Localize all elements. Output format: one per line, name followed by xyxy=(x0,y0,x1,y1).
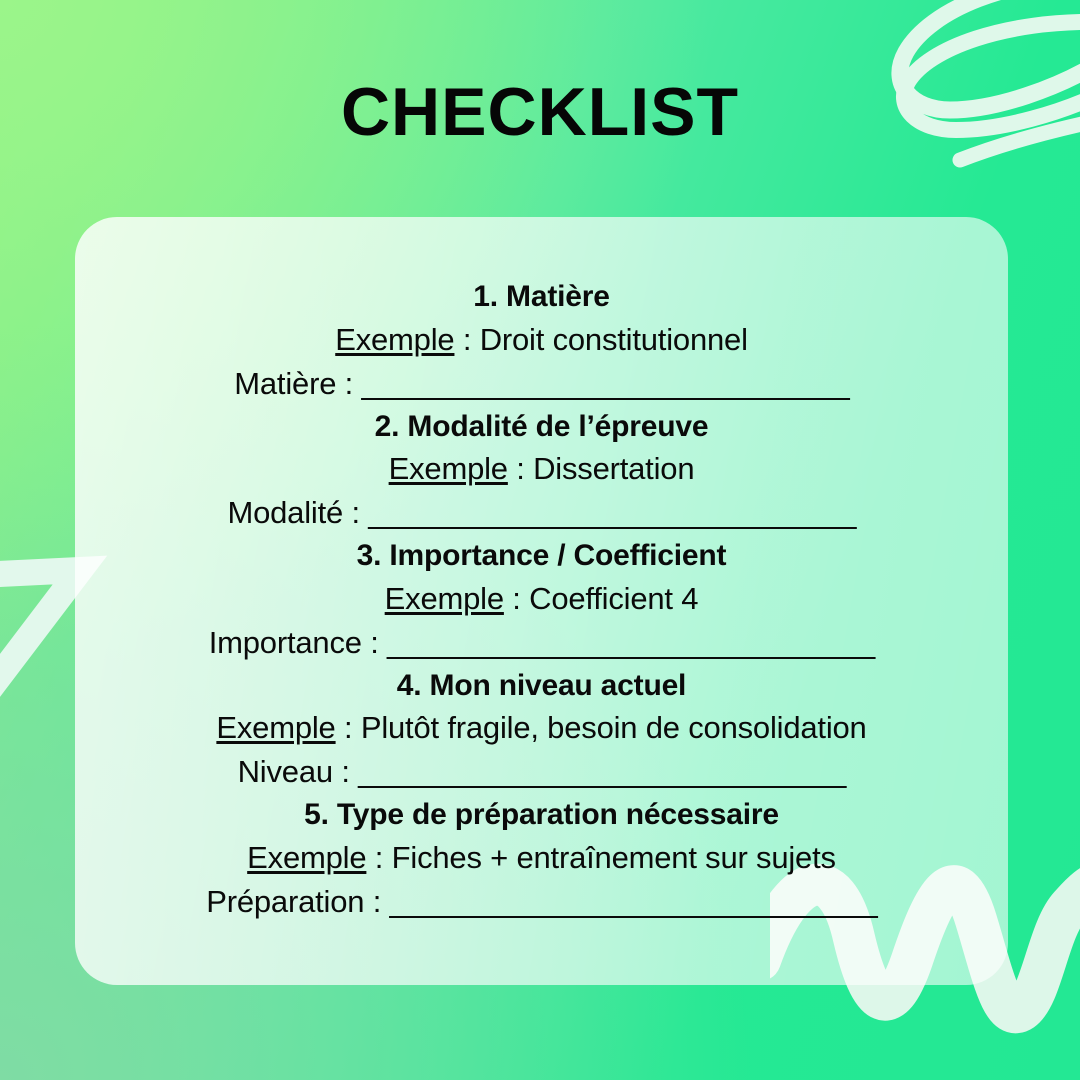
item-field[interactable]: Importance : ___________________________… xyxy=(101,621,982,665)
field-blank-line[interactable]: ______________________________ xyxy=(387,625,874,660)
example-separator: : xyxy=(454,322,479,357)
checklist-poster: CHECKLIST 1. Matière Exemple : Droit con… xyxy=(0,0,1080,1080)
field-label: Importance : xyxy=(209,625,387,660)
field-label: Préparation : xyxy=(206,884,389,919)
checklist-item: 4. Mon niveau actuel Exemple : Plutôt fr… xyxy=(101,665,982,794)
item-example: Exemple : Fiches + entraînement sur suje… xyxy=(101,836,982,880)
example-value: Droit constitutionnel xyxy=(480,322,748,357)
field-label: Modalité : xyxy=(227,495,368,530)
example-value: Coefficient 4 xyxy=(529,581,698,616)
example-label: Exemple xyxy=(385,581,504,616)
example-separator: : xyxy=(336,710,361,745)
item-field[interactable]: Préparation : __________________________… xyxy=(101,880,982,924)
example-separator: : xyxy=(366,840,391,875)
example-label: Exemple xyxy=(389,451,508,486)
example-label: Exemple xyxy=(247,840,366,875)
item-heading: 3. Importance / Coefficient xyxy=(101,535,982,576)
field-blank-line[interactable]: ______________________________ xyxy=(358,754,845,789)
item-heading: 1. Matière xyxy=(101,276,982,317)
example-separator: : xyxy=(508,451,533,486)
example-label: Exemple xyxy=(216,710,335,745)
checklist-item: 5. Type de préparation nécessaire Exempl… xyxy=(101,794,982,923)
item-example: Exemple : Plutôt fragile, besoin de cons… xyxy=(101,706,982,750)
item-heading: 2. Modalité de l’épreuve xyxy=(101,406,982,447)
item-example: Exemple : Droit constitutionnel xyxy=(101,318,982,362)
example-value: Fiches + entraînement sur sujets xyxy=(392,840,836,875)
example-value: Dissertation xyxy=(533,451,694,486)
example-separator: : xyxy=(504,581,529,616)
item-field[interactable]: Modalité : _____________________________… xyxy=(101,491,982,535)
page-title: CHECKLIST xyxy=(0,78,1080,146)
item-field[interactable]: Niveau : ______________________________ xyxy=(101,750,982,794)
field-label: Niveau : xyxy=(238,754,359,789)
item-example: Exemple : Coefficient 4 xyxy=(101,577,982,621)
checklist-item: 1. Matière Exemple : Droit constitutionn… xyxy=(101,276,982,405)
example-value: Plutôt fragile, besoin de consolidation xyxy=(361,710,867,745)
checklist-item: 3. Importance / Coefficient Exemple : Co… xyxy=(101,535,982,664)
field-blank-line[interactable]: ______________________________ xyxy=(368,495,855,530)
example-label: Exemple xyxy=(335,322,454,357)
checklist-card: 1. Matière Exemple : Droit constitutionn… xyxy=(75,217,1008,985)
checklist-item: 2. Modalité de l’épreuve Exemple : Disse… xyxy=(101,406,982,535)
field-blank-line[interactable]: ______________________________ xyxy=(361,366,848,401)
item-heading: 4. Mon niveau actuel xyxy=(101,665,982,706)
field-label: Matière : xyxy=(234,366,361,401)
item-example: Exemple : Dissertation xyxy=(101,447,982,491)
item-field[interactable]: Matière : ______________________________ xyxy=(101,362,982,406)
field-blank-line[interactable]: ______________________________ xyxy=(390,884,877,919)
item-heading: 5. Type de préparation nécessaire xyxy=(101,794,982,835)
